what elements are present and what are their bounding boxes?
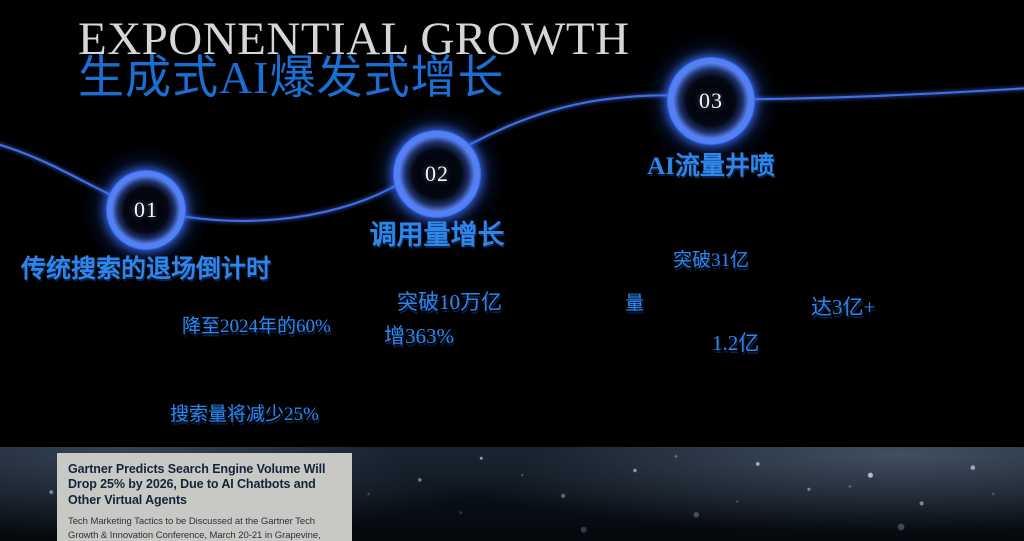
gartner-headline: Gartner Predicts Search Engine Volume Wi… (68, 462, 341, 508)
stat-growth-percent: 增363% (384, 320, 454, 350)
node-number-01: 01 (107, 171, 185, 249)
milestone-node-01[interactable]: 01 传统搜索的退场倒计时 (107, 171, 185, 249)
node-number-02: 02 (394, 131, 480, 217)
stat-reach-3yi: 达3亿+ (811, 291, 875, 321)
stat-decline-2024: 降至2024年的60% (182, 311, 331, 338)
stat-12-yi: 1.2亿 (712, 327, 759, 357)
page-title-chinese: 生成式AI爆发式增长 (78, 55, 505, 101)
node-label-01: 传统搜索的退场倒计时 (21, 249, 271, 285)
slide-canvas: EXPONENTIAL GROWTH 生成式AI爆发式增长 01 传统搜索的退场… (0, 0, 1024, 541)
node-number-03: 03 (668, 58, 754, 144)
stat-search-volume-drop: 搜索量将减少25% (170, 399, 319, 426)
milestone-node-03[interactable]: 03 AI流量井喷 (668, 58, 754, 144)
node-disc-01: 01 (107, 171, 185, 249)
milestone-node-02[interactable]: 02 调用量增长 (394, 131, 480, 217)
band-fade-overlay (0, 421, 1024, 447)
stat-breakthrough-31: 突破31亿 (673, 245, 749, 272)
stat-token-volume: 突破10万亿 (397, 286, 502, 316)
node-disc-03: 03 (668, 58, 754, 144)
node-label-03: AI流量井喷 (647, 146, 775, 182)
stat-volume-fragment: 量 (625, 288, 644, 315)
node-label-02: 调用量增长 (370, 213, 505, 252)
gartner-subhead: Tech Marketing Tactics to be Discussed a… (68, 515, 341, 541)
gartner-news-card[interactable]: Gartner Predicts Search Engine Volume Wi… (57, 453, 352, 541)
node-disc-02: 02 (394, 131, 480, 217)
